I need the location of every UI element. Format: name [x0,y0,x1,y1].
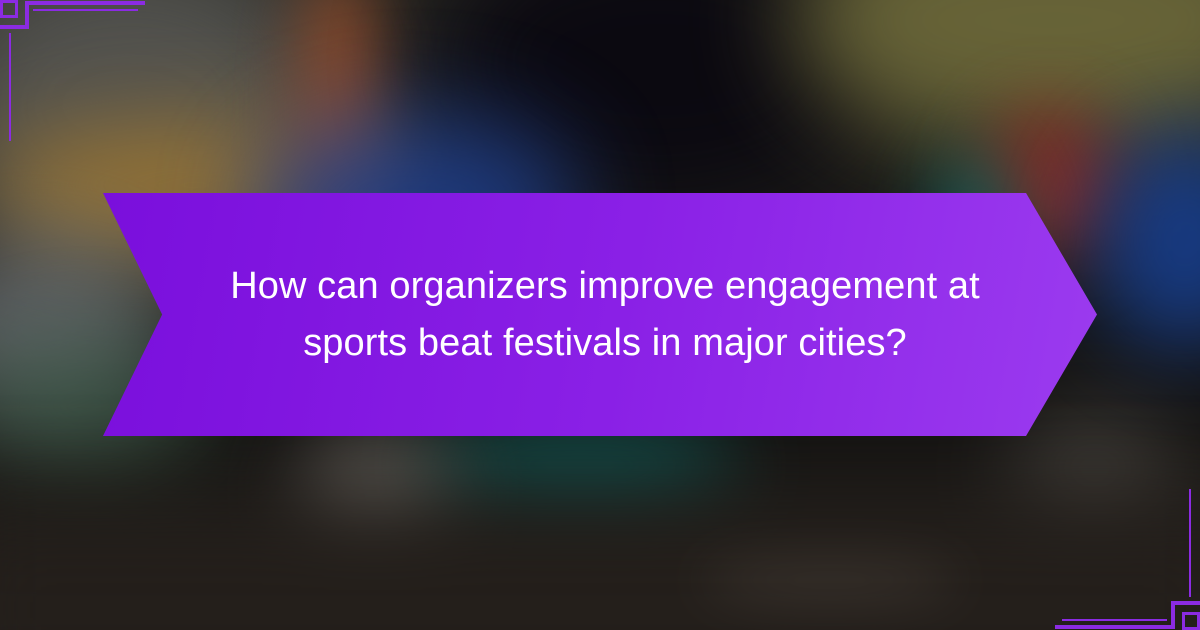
corner-square-top-edge [0,0,18,3]
corner-outer-joint-bar [0,25,29,29]
corner-inner-horizontal-line [1062,619,1167,621]
corner-outer-horizontal-bar [1055,625,1172,629]
corner-inner-horizontal-line [33,9,138,11]
corner-inner-vertical-line [9,33,11,141]
corner-outer-vertical-bar [25,1,29,28]
corner-ornament-bottom-right [1040,470,1200,630]
corner-outer-horizontal-bar [28,1,145,5]
corner-ornament-top-left [0,0,160,160]
bg-blob-asphalt [0,500,1200,630]
corner-outer-joint-bar [1171,601,1200,605]
corner-square-bottom-edge [0,15,18,18]
corner-outer-vertical-bar [1171,602,1175,629]
share-card-canvas: How can organizers improve engagement at… [0,0,1200,630]
headline-banner: How can organizers improve engagement at… [103,193,1097,436]
bg-blob-road-streak [700,560,960,600]
corner-square-bottom-edge [1182,612,1200,615]
headline-text: How can organizers improve engagement at… [205,258,1005,372]
corner-inner-vertical-line [1189,489,1191,597]
